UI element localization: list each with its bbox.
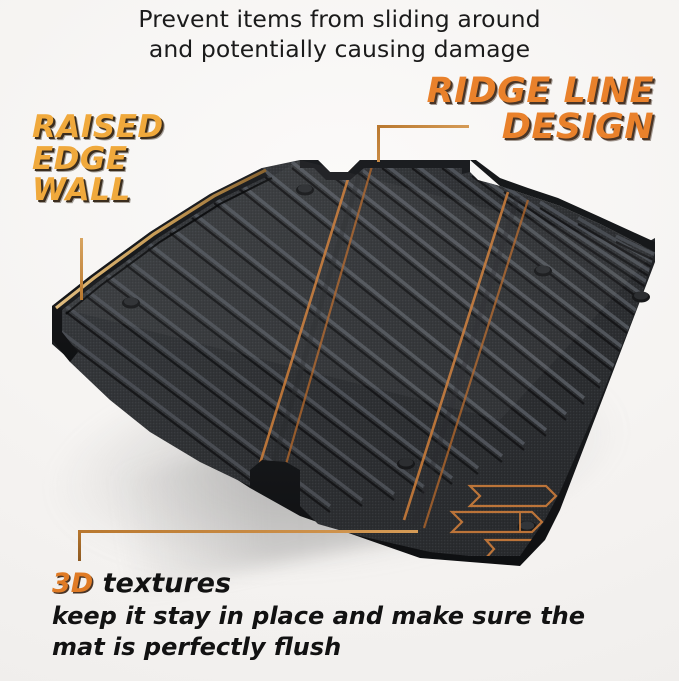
three-d-keyword: 3D xyxy=(52,568,93,599)
bottom-callout-line3: mat is perfectly flush xyxy=(52,632,662,663)
bottom-callout-headline: 3D textures xyxy=(52,568,231,599)
raised-edge-wall-heading: RAISED EDGE WALL xyxy=(32,112,222,207)
raised-edge-wall-pointer xyxy=(80,238,83,300)
raised-heading-line3: WALL xyxy=(32,175,222,207)
three-d-texture-pointer-horizontal xyxy=(78,530,418,533)
bottom-callout-headline-rest: textures xyxy=(93,568,231,599)
ridge-line-pointer-vertical xyxy=(377,125,380,162)
top-callout: Prevent items from sliding around and po… xyxy=(0,4,679,64)
raised-heading-line2: EDGE xyxy=(32,144,222,176)
grommet xyxy=(632,292,650,303)
ridge-heading-line2: DESIGN xyxy=(404,110,654,146)
product-marketing-image: Prevent items from sliding around and po… xyxy=(0,0,679,681)
ridge-heading-line1: RIDGE LINE xyxy=(427,71,654,111)
grommet xyxy=(397,459,415,470)
top-callout-line1: Prevent items from sliding around xyxy=(138,5,540,33)
bottom-callout: 3D textures keep it stay in place and ma… xyxy=(52,566,662,663)
ridge-line-design-heading: RIDGE LINE DESIGN xyxy=(404,74,654,145)
raised-heading-line1: RAISED xyxy=(32,112,222,144)
bottom-callout-line2: keep it stay in place and make sure the xyxy=(52,601,662,632)
three-d-texture-pointer-vertical xyxy=(78,530,81,561)
top-callout-line2: and potentially causing damage xyxy=(0,34,679,64)
